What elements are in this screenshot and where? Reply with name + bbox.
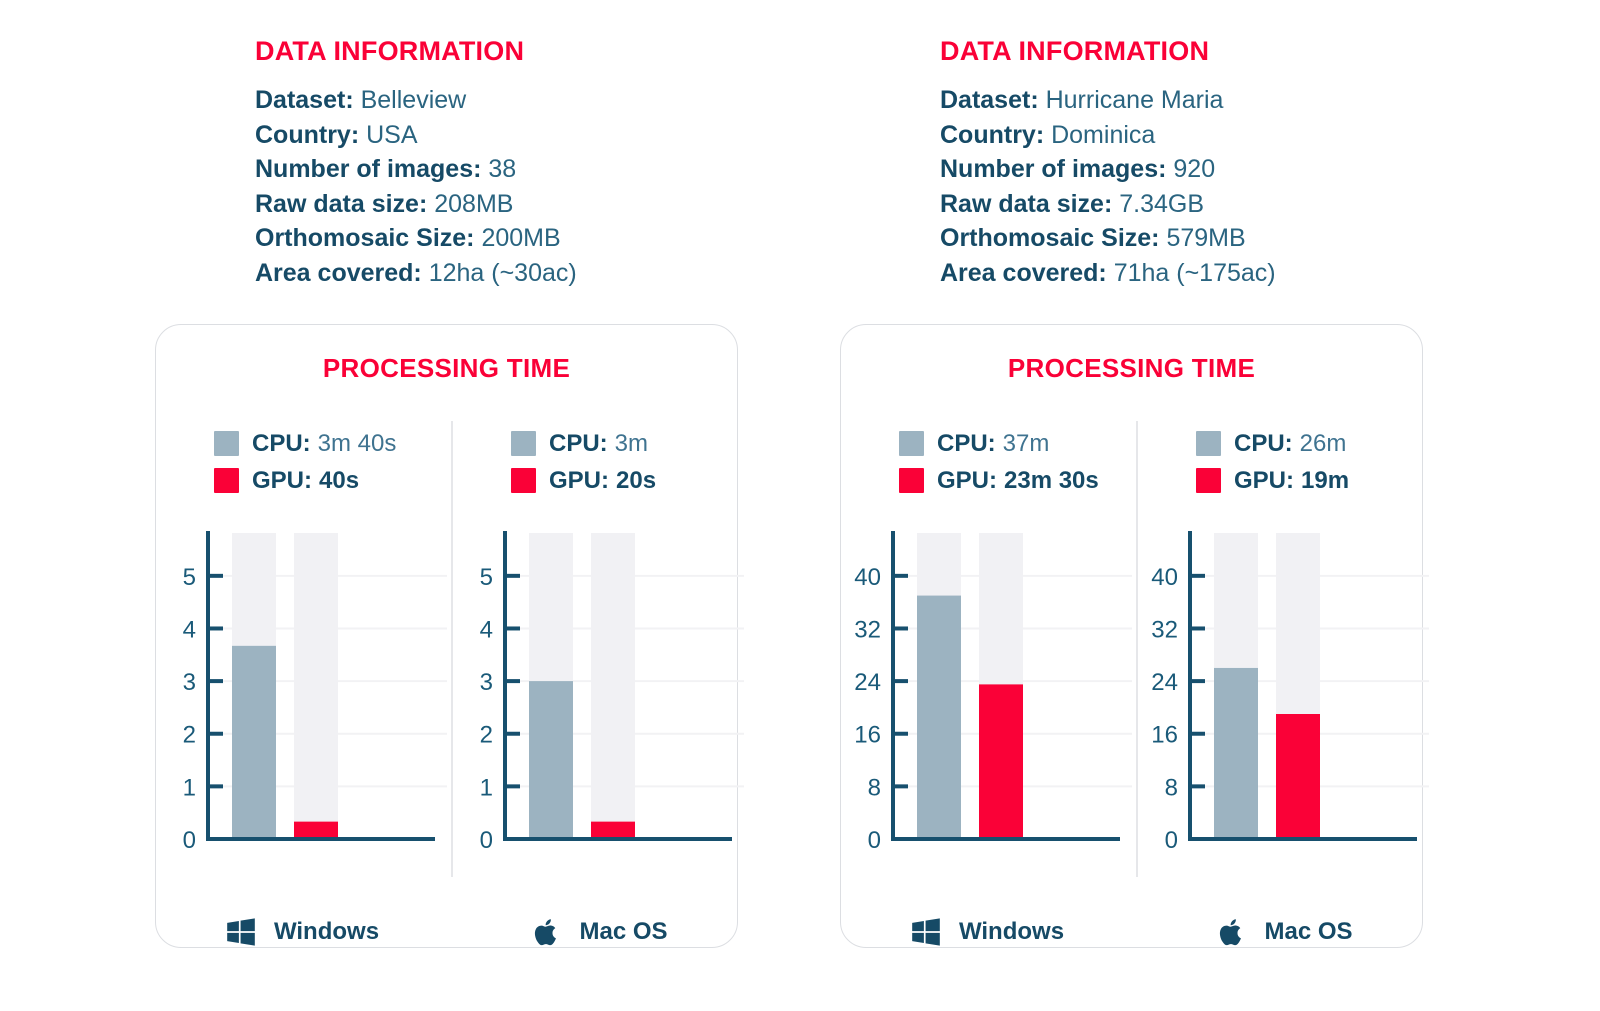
processing-time-card: PROCESSING TIMECPU:37mGPU:23m 30s0816243… [840, 324, 1423, 948]
svg-text:32: 32 [854, 616, 881, 643]
data-information-label: Country: [255, 121, 359, 149]
panel-hurricane-maria: DATA INFORMATIONDataset: Hurricane Maria… [835, 0, 1535, 1011]
data-information-label: Raw data size: [255, 190, 427, 218]
svg-text:40: 40 [1151, 564, 1178, 591]
processing-time-title: PROCESSING TIME [841, 355, 1422, 381]
svg-text:16: 16 [854, 722, 881, 749]
svg-text:16: 16 [1151, 722, 1178, 749]
data-information-value: 579MB [1160, 224, 1246, 252]
data-information-row: Area covered: 12ha (~30ac) [255, 256, 835, 291]
data-information-list: Dataset: Hurricane MariaCountry: Dominic… [940, 83, 1520, 290]
data-information-value: 38 [481, 155, 516, 183]
os-label-row: Mac OS [1138, 915, 1429, 949]
legend-row-cpu: CPU:3m 40s [156, 425, 447, 462]
data-information-row: Area covered: 71ha (~175ac) [940, 256, 1520, 291]
svg-text:4: 4 [480, 616, 493, 643]
bar-chart: 0816243240 [841, 521, 1132, 861]
windows-icon [909, 915, 943, 949]
data-information-row: Orthomosaic Size: 200MB [255, 221, 835, 256]
data-information-block: DATA INFORMATIONDataset: Hurricane Maria… [940, 38, 1520, 290]
os-label-row: Windows [841, 915, 1132, 949]
legend-gpu-key: GPU: [1234, 467, 1294, 495]
svg-text:24: 24 [1151, 669, 1178, 696]
legend-row-cpu: CPU:26m [1138, 425, 1429, 462]
data-information-row: Country: Dominica [940, 118, 1520, 153]
legend-row-gpu: GPU:40s [156, 462, 447, 499]
cpu-swatch-icon [899, 431, 924, 456]
data-information-row: Country: USA [255, 118, 835, 153]
data-information-row: Raw data size: 7.34GB [940, 187, 1520, 222]
legend-row-gpu: GPU:20s [453, 462, 744, 499]
data-information-value: 208MB [427, 190, 513, 218]
data-information-row: Dataset: Belleview [255, 83, 835, 118]
data-information-value: USA [359, 121, 417, 149]
data-information-row: Orthomosaic Size: 579MB [940, 221, 1520, 256]
cpu-swatch-icon [214, 431, 239, 456]
chart-legend: CPU:37mGPU:23m 30s [841, 425, 1132, 499]
data-information-row: Number of images: 920 [940, 152, 1520, 187]
bar-chart: 0816243240 [1138, 521, 1429, 861]
legend-gpu-value: 19m [1301, 467, 1349, 495]
data-information-label: Dataset: [255, 86, 354, 114]
legend-cpu-value: 37m [1003, 430, 1050, 458]
svg-text:0: 0 [1165, 827, 1178, 854]
data-information-value: Hurricane Maria [1039, 86, 1224, 114]
data-information-label: Country: [940, 121, 1044, 149]
legend-row-gpu: GPU:19m [1138, 462, 1429, 499]
gpu-swatch-icon [899, 468, 924, 493]
data-information-value: 12ha (~30ac) [422, 259, 577, 287]
gpu-swatch-icon [214, 468, 239, 493]
legend-cpu-value: 3m [615, 430, 648, 458]
data-information-label: Orthomosaic Size: [940, 224, 1160, 252]
legend-cpu-key: CPU: [1234, 430, 1293, 458]
svg-text:5: 5 [480, 564, 493, 591]
os-name: Mac OS [1264, 920, 1352, 944]
data-information-value: Belleview [354, 86, 467, 114]
data-information-label: Orthomosaic Size: [255, 224, 475, 252]
chart-legend: CPU:3m 40sGPU:40s [156, 425, 447, 499]
legend-cpu-value: 26m [1300, 430, 1347, 458]
windows-icon [224, 915, 258, 949]
gpu-swatch-icon [511, 468, 536, 493]
svg-text:8: 8 [868, 774, 881, 801]
legend-cpu-key: CPU: [252, 430, 311, 458]
os-name: Windows [959, 920, 1064, 944]
data-information-value: Dominica [1044, 121, 1155, 149]
os-name: Windows [274, 920, 379, 944]
svg-text:3: 3 [183, 669, 196, 696]
data-information-label: Number of images: [940, 155, 1166, 183]
chart-legend: CPU:3mGPU:20s [453, 425, 744, 499]
legend-gpu-key: GPU: [252, 467, 312, 495]
legend-gpu-value: 20s [616, 467, 656, 495]
os-label-row: Windows [156, 915, 447, 949]
apple-icon [1214, 915, 1248, 949]
data-information-list: Dataset: BelleviewCountry: USANumber of … [255, 83, 835, 290]
subchart-mac-os: CPU:26mGPU:19m0816243240Mac OS [1138, 411, 1429, 941]
data-information-value: 920 [1166, 155, 1215, 183]
svg-text:3: 3 [480, 669, 493, 696]
svg-text:0: 0 [183, 827, 196, 854]
svg-text:1: 1 [480, 774, 493, 801]
legend-gpu-value: 40s [319, 467, 359, 495]
data-information-row: Dataset: Hurricane Maria [940, 83, 1520, 118]
chart-legend: CPU:26mGPU:19m [1138, 425, 1429, 499]
data-information-title: DATA INFORMATION [255, 38, 835, 65]
svg-text:5: 5 [183, 564, 196, 591]
bar-chart: 012345 [453, 521, 744, 861]
gpu-swatch-icon [1196, 468, 1221, 493]
svg-text:1: 1 [183, 774, 196, 801]
data-information-label: Number of images: [255, 155, 481, 183]
svg-text:8: 8 [1165, 774, 1178, 801]
svg-text:2: 2 [480, 722, 493, 749]
os-label-row: Mac OS [453, 915, 744, 949]
data-information-block: DATA INFORMATIONDataset: BelleviewCountr… [255, 38, 835, 290]
data-information-label: Raw data size: [940, 190, 1112, 218]
svg-text:0: 0 [480, 827, 493, 854]
data-information-label: Dataset: [940, 86, 1039, 114]
subchart-mac-os: CPU:3mGPU:20s012345Mac OS [453, 411, 744, 941]
legend-cpu-key: CPU: [937, 430, 996, 458]
processing-time-title: PROCESSING TIME [156, 355, 737, 381]
legend-gpu-key: GPU: [549, 467, 609, 495]
panel-belleview: DATA INFORMATIONDataset: BelleviewCountr… [150, 0, 850, 1011]
svg-text:24: 24 [854, 669, 881, 696]
svg-text:40: 40 [854, 564, 881, 591]
data-information-label: Area covered: [255, 259, 422, 287]
svg-text:2: 2 [183, 722, 196, 749]
legend-row-gpu: GPU:23m 30s [841, 462, 1132, 499]
data-information-value: 200MB [475, 224, 561, 252]
svg-text:0: 0 [868, 827, 881, 854]
processing-time-card: PROCESSING TIMECPU:3m 40sGPU:40s012345Wi… [155, 324, 738, 948]
apple-icon [529, 915, 563, 949]
data-information-title: DATA INFORMATION [940, 38, 1520, 65]
legend-row-cpu: CPU:3m [453, 425, 744, 462]
legend-gpu-value: 23m 30s [1004, 467, 1099, 495]
data-information-row: Number of images: 38 [255, 152, 835, 187]
data-information-label: Area covered: [940, 259, 1107, 287]
data-information-value: 7.34GB [1112, 190, 1204, 218]
legend-row-cpu: CPU:37m [841, 425, 1132, 462]
data-information-value: 71ha (~175ac) [1107, 259, 1276, 287]
subchart-windows: CPU:37mGPU:23m 30s0816243240Windows [841, 411, 1132, 941]
legend-cpu-key: CPU: [549, 430, 608, 458]
os-name: Mac OS [579, 920, 667, 944]
infographic-root: DATA INFORMATIONDataset: BelleviewCountr… [0, 0, 1600, 1011]
legend-cpu-value: 3m 40s [318, 430, 397, 458]
legend-gpu-key: GPU: [937, 467, 997, 495]
subchart-windows: CPU:3m 40sGPU:40s012345Windows [156, 411, 447, 941]
data-information-row: Raw data size: 208MB [255, 187, 835, 222]
cpu-swatch-icon [511, 431, 536, 456]
svg-text:4: 4 [183, 616, 196, 643]
svg-text:32: 32 [1151, 616, 1178, 643]
bar-chart: 012345 [156, 521, 447, 861]
cpu-swatch-icon [1196, 431, 1221, 456]
